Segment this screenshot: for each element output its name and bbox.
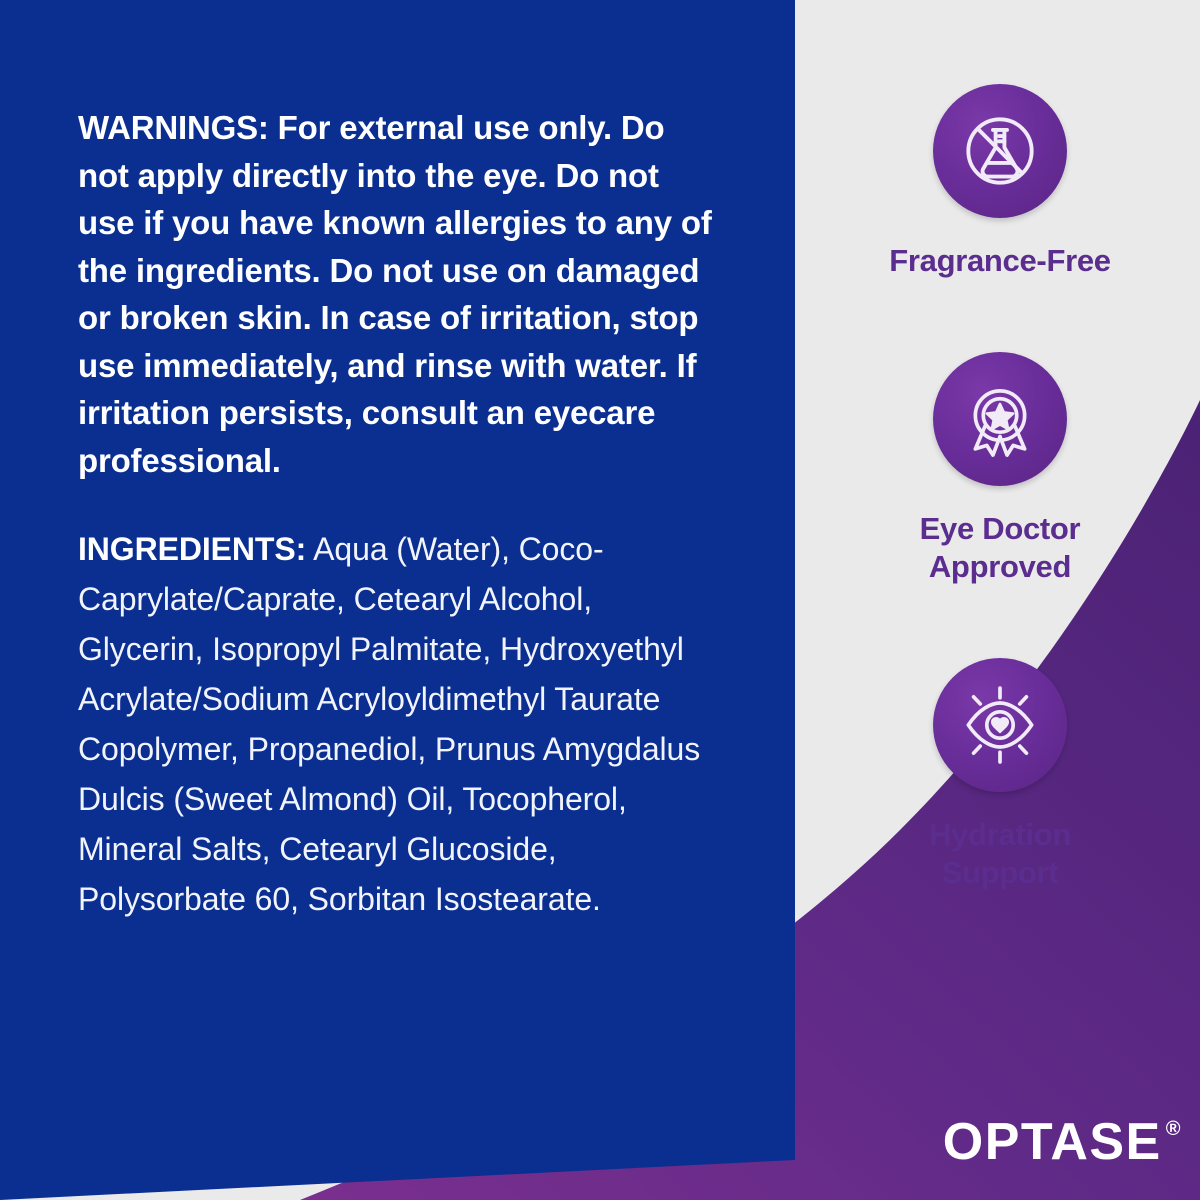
feature-label-eye-doctor-approved: Eye DoctorApproved xyxy=(920,510,1081,586)
feature-label-fragrance-free: Fragrance-Free xyxy=(889,242,1111,280)
registered-trademark-symbol: ® xyxy=(1166,1118,1182,1141)
award-ribbon-star-icon xyxy=(956,375,1044,463)
label-text-column: WARNINGS: For external use only. Do not … xyxy=(78,104,718,924)
feature-fragrance-free: Fragrance-Free xyxy=(830,84,1170,280)
warnings-heading: WARNINGS: xyxy=(78,109,269,146)
badge-circle-eye-doctor-approved xyxy=(933,352,1067,486)
no-fragrance-flask-icon xyxy=(956,107,1044,195)
feature-eye-doctor-approved: Eye DoctorApproved xyxy=(830,352,1170,586)
feature-hydration-support: HydrationSupport xyxy=(830,658,1170,892)
warnings-body: For external use only. Do not apply dire… xyxy=(78,109,712,479)
ingredients-paragraph: INGREDIENTS: Aqua (Water), Coco-Caprylat… xyxy=(78,524,718,924)
feature-badge-column: Fragrance-Free xyxy=(800,0,1200,1080)
optase-wordmark: OPTASE® xyxy=(943,1112,1182,1172)
warnings-paragraph: WARNINGS: For external use only. Do not … xyxy=(78,104,718,484)
ingredients-heading: INGREDIENTS: xyxy=(78,531,306,567)
product-info-panel: WARNINGS: For external use only. Do not … xyxy=(0,0,1200,1200)
ingredients-body: Aqua (Water), Coco-Caprylate/Caprate, Ce… xyxy=(78,531,700,917)
badge-circle-fragrance-free xyxy=(933,84,1067,218)
feature-label-hydration-support: HydrationSupport xyxy=(929,816,1071,892)
badge-circle-hydration-support xyxy=(933,658,1067,792)
brand-name: OPTASE xyxy=(943,1112,1162,1172)
eye-heart-rays-icon xyxy=(956,681,1044,769)
